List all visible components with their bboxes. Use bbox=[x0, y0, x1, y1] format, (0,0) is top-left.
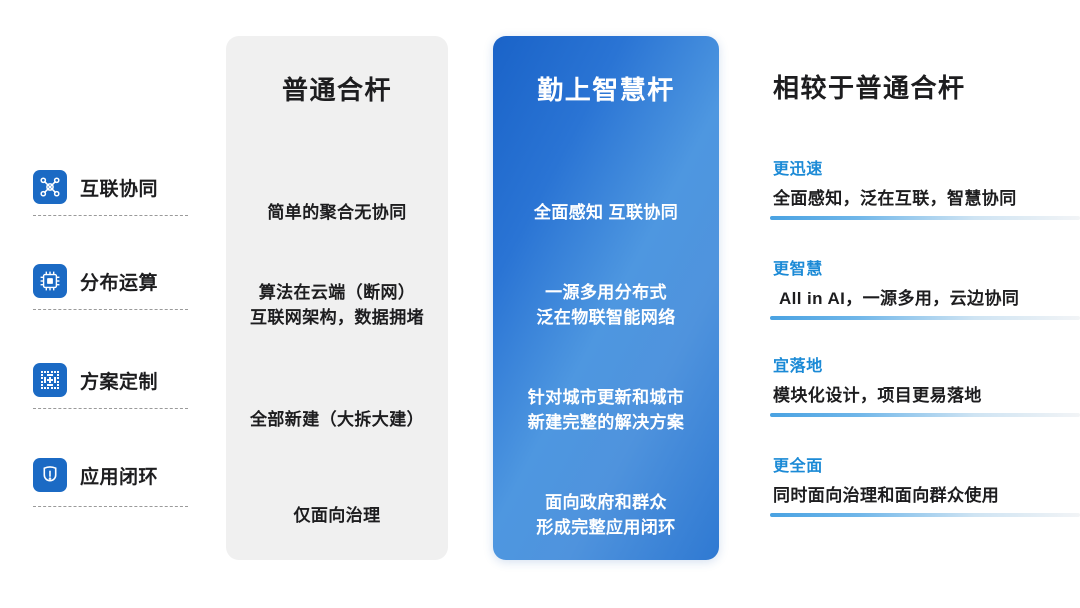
benefit-description: 全面感知，泛在互联，智慧协同 bbox=[773, 184, 1080, 209]
plain-pole-row-2-line-0: 全部新建（大拆大建） bbox=[232, 408, 442, 433]
plain-pole-row-1: 算法在云端（断网） 互联网架构，数据拥堵 bbox=[232, 281, 442, 330]
benefit-underline bbox=[770, 513, 1080, 517]
benefit-heading: 更全面 bbox=[773, 452, 1080, 476]
smart-pole-row-3: 面向政府和群众 形成完整应用闭环 bbox=[499, 491, 713, 540]
plain-pole-card: 普通合杆 简单的聚合无协同 算法在云端（断网） 互联网架构，数据拥堵 全部新建（… bbox=[226, 36, 448, 560]
smart-pole-row-0-line-0: 全面感知 互联协同 bbox=[499, 201, 713, 226]
plain-pole-row-1-line-1: 互联网架构，数据拥堵 bbox=[232, 306, 442, 331]
benefit-description: 模块化设计，项目更易落地 bbox=[773, 381, 1080, 406]
benefit-item-comprehensive: 更全面 同时面向治理和面向群众使用 bbox=[770, 452, 1080, 517]
feature-item-label: 应用闭环 bbox=[80, 462, 158, 489]
plain-pole-row-3-line-0: 仅面向治理 bbox=[232, 504, 442, 529]
network-nodes-icon bbox=[33, 170, 67, 204]
qr-grid-icon bbox=[33, 363, 67, 397]
plain-pole-row-0: 简单的聚合无协同 bbox=[232, 201, 442, 226]
smart-pole-row-3-line-1: 形成完整应用闭环 bbox=[499, 516, 713, 541]
benefit-description: 同时面向治理和面向群众使用 bbox=[773, 481, 1080, 506]
comparison-title: 相较于普通合杆 bbox=[773, 68, 966, 105]
feature-item-custom-solution[interactable]: 方案定制 bbox=[33, 356, 218, 404]
feature-item-interconnect[interactable]: 互联协同 bbox=[33, 163, 218, 211]
smart-pole-card: 勤上智慧杆 全面感知 互联协同 一源多用分布式 泛在物联智能网络 针对城市更新和… bbox=[493, 36, 719, 560]
benefit-description: All in AI，一源多用，云边协同 bbox=[773, 284, 1080, 309]
benefit-underline bbox=[770, 216, 1080, 220]
smart-pole-row-1-line-1: 泛在物联智能网络 bbox=[499, 306, 713, 331]
plain-pole-row-2: 全部新建（大拆大建） bbox=[232, 408, 442, 433]
feature-item-distributed-computing[interactable]: 分布运算 bbox=[33, 257, 218, 305]
feature-column: 互联协同 bbox=[0, 0, 225, 608]
plain-pole-row-3: 仅面向治理 bbox=[232, 504, 442, 529]
smart-pole-row-2-line-1: 新建完整的解决方案 bbox=[499, 411, 713, 436]
smart-pole-row-1: 一源多用分布式 泛在物联智能网络 bbox=[499, 281, 713, 330]
benefit-underline bbox=[770, 316, 1080, 320]
smart-pole-row-0: 全面感知 互联协同 bbox=[499, 201, 713, 226]
comparison-column: 相较于普通合杆 更迅速 全面感知，泛在互联，智慧协同 更智慧 All in AI… bbox=[770, 0, 1080, 608]
feature-divider bbox=[33, 215, 188, 216]
feature-item-label: 分布运算 bbox=[80, 268, 158, 295]
feature-item-label: 互联协同 bbox=[80, 174, 158, 201]
smart-pole-row-1-line-0: 一源多用分布式 bbox=[499, 281, 713, 306]
feature-item-label: 方案定制 bbox=[80, 367, 158, 394]
feature-divider bbox=[33, 408, 188, 409]
benefit-underline bbox=[770, 413, 1080, 417]
alert-shield-icon bbox=[33, 458, 67, 492]
benefit-item-faster: 更迅速 全面感知，泛在互联，智慧协同 bbox=[770, 155, 1080, 220]
benefit-item-deployable: 宜落地 模块化设计，项目更易落地 bbox=[770, 352, 1080, 417]
benefit-heading: 更智慧 bbox=[773, 255, 1080, 279]
plain-pole-row-0-line-0: 简单的聚合无协同 bbox=[232, 201, 442, 226]
feature-item-application-loop[interactable]: 应用闭环 bbox=[33, 451, 218, 499]
smart-pole-title: 勤上智慧杆 bbox=[493, 70, 719, 107]
benefit-item-smarter: 更智慧 All in AI，一源多用，云边协同 bbox=[770, 255, 1080, 320]
feature-divider bbox=[33, 309, 188, 310]
smart-pole-row-3-line-0: 面向政府和群众 bbox=[499, 491, 713, 516]
smart-pole-row-2-line-0: 针对城市更新和城市 bbox=[499, 386, 713, 411]
benefit-heading: 宜落地 bbox=[773, 352, 1080, 376]
plain-pole-row-1-line-0: 算法在云端（断网） bbox=[232, 281, 442, 306]
benefit-heading: 更迅速 bbox=[773, 155, 1080, 179]
cpu-chip-icon bbox=[33, 264, 67, 298]
feature-divider bbox=[33, 506, 188, 507]
smart-pole-row-2: 针对城市更新和城市 新建完整的解决方案 bbox=[499, 386, 713, 435]
plain-pole-title: 普通合杆 bbox=[226, 70, 448, 107]
